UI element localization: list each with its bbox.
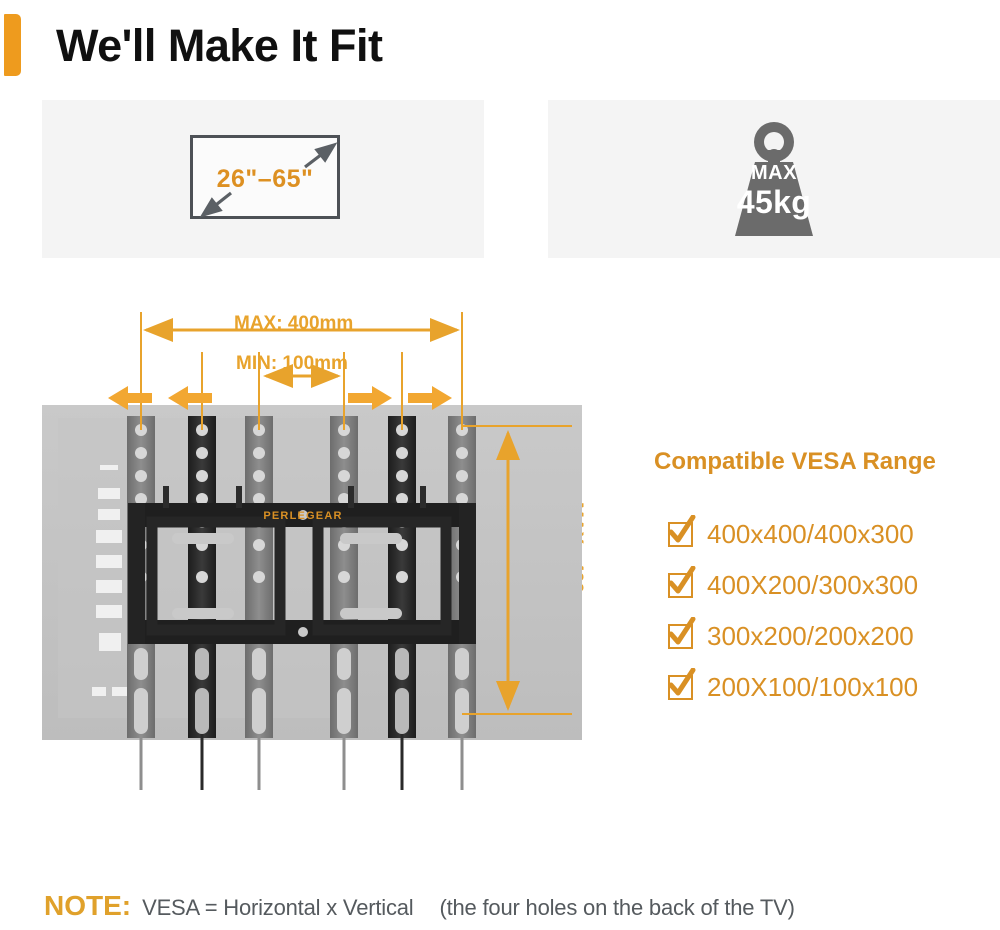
screen-size-card: 26"–65" xyxy=(42,100,484,258)
tv-mount-illustration: PERLEGEAR xyxy=(0,290,640,800)
checkbox-checked-icon[interactable] xyxy=(668,573,693,598)
vesa-item-label: 200X100/100x100 xyxy=(707,672,918,703)
page-title: We'll Make It Fit xyxy=(56,14,382,78)
weight-value-label: 45kg xyxy=(548,184,1000,221)
vesa-item-label: 400x400/400x300 xyxy=(707,519,914,550)
weight-max-label: MAX xyxy=(548,162,1000,185)
weight-capacity-card: MAX 45kg xyxy=(548,100,1000,258)
note-row: NOTE: VESA = Horizontal x Vertical (the … xyxy=(44,890,795,922)
checkbox-checked-icon[interactable] xyxy=(668,675,693,700)
checkbox-checked-icon[interactable] xyxy=(668,522,693,547)
note-parenthetical: (the four holes on the back of the TV) xyxy=(439,895,794,921)
checkbox-checked-icon[interactable] xyxy=(668,624,693,649)
vesa-range-heading: Compatible VESA Range xyxy=(654,448,936,476)
vesa-item-label: 300x200/200x200 xyxy=(707,621,914,652)
list-item[interactable]: 400x400/400x300 xyxy=(668,509,998,560)
vesa-item-label: 400X200/300x300 xyxy=(707,570,918,601)
tv-panel xyxy=(42,405,582,740)
list-item[interactable]: 400X200/300x300 xyxy=(668,560,998,611)
list-item[interactable]: 300x200/200x200 xyxy=(668,611,998,662)
brand-mark: PERLEGEAR xyxy=(263,510,342,522)
note-text: VESA = Horizontal x Vertical xyxy=(142,895,413,921)
diagonal-arrows-icon xyxy=(193,138,343,222)
list-item[interactable]: 200X100/100x100 xyxy=(668,662,998,713)
tv-screen-diagonal-icon: 26"–65" xyxy=(190,135,340,219)
cables xyxy=(141,734,462,790)
header-accent-bar xyxy=(4,14,21,76)
vesa-range-list: 400x400/400x300 400X200/300x300 300x200/… xyxy=(668,509,998,713)
note-label: NOTE: xyxy=(44,890,131,922)
